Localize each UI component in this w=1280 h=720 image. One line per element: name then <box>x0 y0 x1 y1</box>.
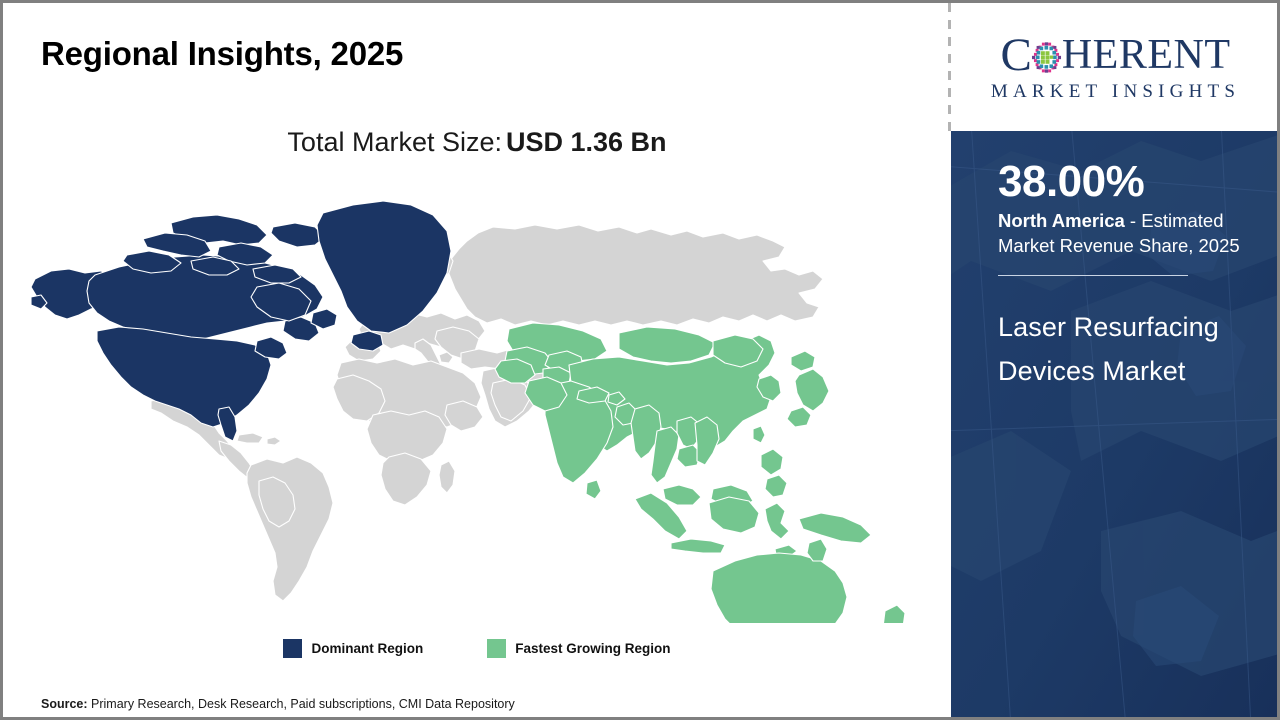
legend-label-fastest-growing: Fastest Growing Region <box>515 641 670 656</box>
map-region-asia-pacific <box>495 323 905 623</box>
total-market-size-label: Total Market Size: <box>287 127 502 157</box>
dominant-region-swatch <box>283 639 302 658</box>
stat-description: North America - Estimated Market Revenue… <box>998 209 1248 259</box>
legend-item-dominant: Dominant Region <box>283 639 423 658</box>
stat-percentage: 38.00% <box>998 159 1248 205</box>
legend-label-dominant: Dominant Region <box>311 641 423 656</box>
slide-canvas: Regional Insights, 2025 Total Market Siz… <box>0 0 1280 720</box>
logo-tagline: MARKET INSIGHTS <box>991 81 1240 103</box>
source-label: Source: <box>41 697 88 711</box>
source-text: Primary Research, Desk Research, Paid su… <box>88 697 515 711</box>
right-panel: C <box>951 3 1280 717</box>
logo-wordmark-text: HERENT <box>1062 34 1231 76</box>
stat-divider-rule <box>998 275 1188 276</box>
fastest-growing-region-swatch <box>487 639 506 658</box>
brand-logo: C <box>951 3 1280 131</box>
logo-wordmark: C <box>1000 31 1230 79</box>
logo-letter-c: C <box>1000 32 1031 79</box>
total-market-size-value: USD 1.36 Bn <box>506 127 667 157</box>
legend-item-fastest-growing: Fastest Growing Region <box>487 639 670 658</box>
total-market-size: Total Market Size:USD 1.36 Bn <box>3 127 951 158</box>
left-content-pane: Regional Insights, 2025 Total Market Siz… <box>3 3 951 717</box>
source-line: Source: Primary Research, Desk Research,… <box>41 697 515 711</box>
world-map-svg <box>23 183 923 623</box>
page-title: Regional Insights, 2025 <box>41 35 403 73</box>
globe-dots-icon <box>1030 41 1063 74</box>
market-title: Laser Resurfacing Devices Market <box>998 306 1248 393</box>
stat-content: 38.00% North America - Estimated Market … <box>998 159 1248 394</box>
stat-panel: 38.00% North America - Estimated Market … <box>951 131 1280 717</box>
stat-region-name: North America <box>998 210 1125 231</box>
map-legend: Dominant Region Fastest Growing Region <box>3 639 951 658</box>
world-map <box>23 183 923 623</box>
